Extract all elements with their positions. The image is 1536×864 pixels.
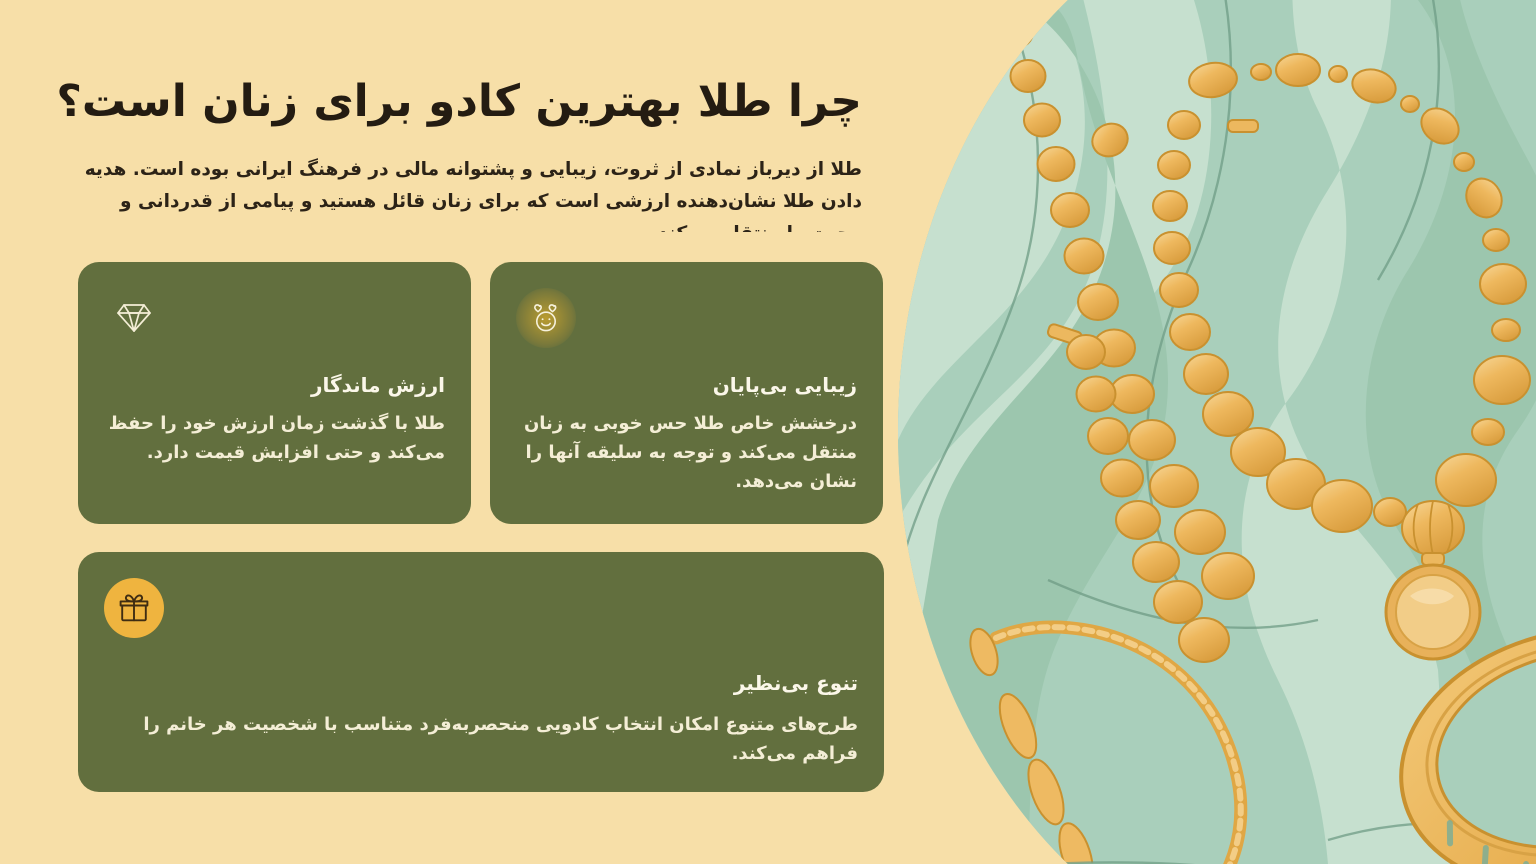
feature-card-grid: ارزش ماندگار طلا با گذشت زمان ارزش خود ر… bbox=[78, 262, 884, 792]
card-row-bottom: تنوع بی‌نظیر طرح‌های متنوع امکان انتخاب … bbox=[78, 552, 884, 792]
feature-card-title: ارزش ماندگار bbox=[104, 370, 445, 400]
feature-card-title: زیبایی بی‌پایان bbox=[516, 370, 857, 400]
intro-paragraph: طلا از دیرباز نمادی از ثروت، زیبایی و پش… bbox=[78, 154, 862, 232]
illustration-panel bbox=[898, 0, 1536, 864]
heart-smiley-icon bbox=[516, 288, 576, 348]
feature-card-body: طلا با گذشت زمان ارزش خود را حفظ می‌کند … bbox=[104, 409, 445, 467]
feature-card-variety[interactable]: تنوع بی‌نظیر طرح‌های متنوع امکان انتخاب … bbox=[78, 552, 884, 792]
card-row-top: ارزش ماندگار طلا با گذشت زمان ارزش خود ر… bbox=[78, 262, 884, 524]
feature-card-body: درخشش خاص طلا حس خوبی به زنان منتقل می‌ک… bbox=[516, 409, 857, 496]
feature-card-title: تنوع بی‌نظیر bbox=[104, 668, 858, 698]
feature-card-lasting-value[interactable]: ارزش ماندگار طلا با گذشت زمان ارزش خود ر… bbox=[78, 262, 471, 524]
feature-card-endless-beauty[interactable]: زیبایی بی‌پایان درخشش خاص طلا حس خوبی به… bbox=[490, 262, 883, 524]
page-title: چرا طلا بهترین کادو برای زنان است؟ bbox=[78, 74, 862, 130]
feature-card-body: طرح‌های متنوع امکان انتخاب کادویی منحصرب… bbox=[104, 710, 858, 768]
gift-icon bbox=[104, 578, 164, 638]
slide-root: چرا طلا بهترین کادو برای زنان است؟ طلا ا… bbox=[0, 0, 1536, 864]
diamond-icon bbox=[104, 288, 164, 348]
